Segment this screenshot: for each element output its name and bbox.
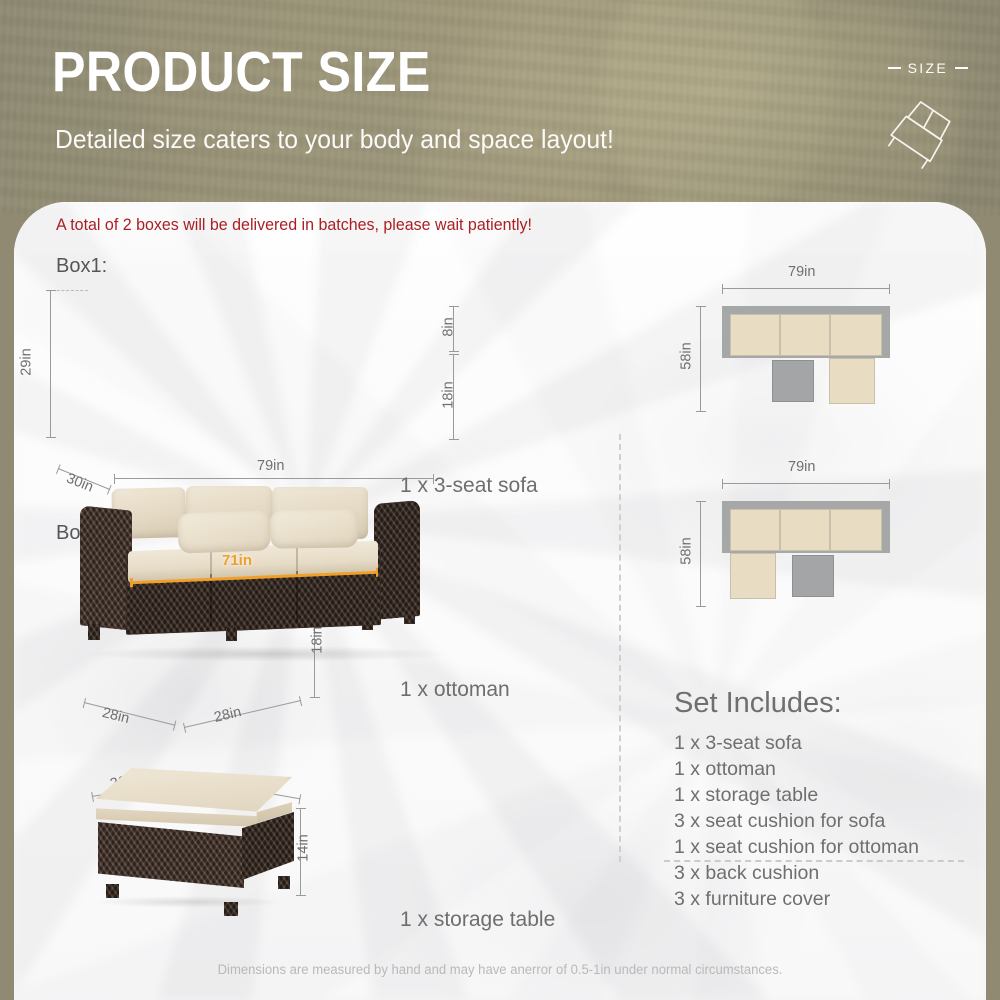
measurement-disclaimer: Dimensions are measured by hand and may … — [15, 962, 985, 977]
header-banner: PRODUCT SIZE Detailed size caters to you… — [0, 0, 1000, 215]
set-includes-item: 1 x ottoman — [674, 756, 919, 782]
delivery-notice: A total of 2 boxes will be delivered in … — [56, 216, 532, 235]
set-includes-item: 3 x seat cushion for sofa — [674, 808, 919, 834]
ottoman-width-value: 28in — [100, 705, 130, 727]
sofa-width-line — [114, 478, 434, 479]
sofa-line-icon — [888, 96, 962, 179]
page-title: PRODUCT SIZE — [52, 44, 431, 101]
storage-table-product-label: 1 x storage table — [400, 908, 555, 932]
ottoman-depth-line — [184, 700, 301, 728]
layout1-width-line — [722, 288, 890, 289]
body-seam — [296, 571, 298, 623]
page-subtitle: Detailed size caters to your body and sp… — [55, 124, 614, 155]
layout1-sofa-cushion — [780, 314, 830, 356]
layout1-width-value: 79in — [788, 264, 815, 280]
badge-dash-left — [888, 67, 901, 68]
sofa-width-value: 79in — [257, 458, 284, 474]
set-includes-item: 3 x furniture cover — [674, 886, 919, 912]
set-includes-item: 1 x seat cushion for ottoman — [674, 834, 919, 860]
layout1-storage-table — [772, 360, 814, 402]
sofa-height-value: 29in — [19, 348, 35, 375]
ottoman-product-label: 1 x ottoman — [400, 678, 510, 702]
layout2-width-line — [722, 483, 890, 484]
sofa-left-arm — [80, 505, 132, 630]
size-badge-label: SIZE — [908, 60, 948, 76]
set-includes-item: 1 x 3-seat sofa — [674, 730, 919, 756]
size-badge: SIZE — [888, 60, 968, 76]
sofa-lumbar-pillow — [270, 509, 359, 549]
layout2-width-value: 79in — [788, 459, 815, 475]
ottoman-illustration — [84, 762, 324, 912]
layout1-sofa-cushion — [830, 314, 882, 356]
seat-width-value: 71in — [222, 552, 252, 569]
set-includes-item: 3 x back cushion — [674, 860, 919, 886]
layout-diagram-2: 79in 58in — [674, 457, 964, 617]
layout1-depth-line — [700, 306, 701, 412]
content-panel: A total of 2 boxes will be delivered in … — [14, 202, 986, 1000]
column-divider — [619, 434, 621, 862]
ottoman-leg — [278, 876, 290, 889]
sofa-leg — [226, 627, 237, 641]
sofa-shadow — [80, 646, 452, 662]
layout2-sofa-cushion — [780, 509, 830, 551]
layout-diagram-1: 79in 58in — [674, 262, 964, 422]
box1-label: Box1: — [56, 255, 107, 278]
sofa-lumbar-pillow — [177, 510, 270, 553]
ottoman-depth-value: 28in — [213, 704, 243, 726]
header-foliage-texture — [0, 0, 1000, 215]
sofa-illustration: 71in — [74, 484, 464, 664]
badge-dash-right — [955, 67, 968, 68]
set-includes-item: 1 x storage table — [674, 782, 919, 808]
layout2-depth-line — [700, 501, 701, 607]
infographic-root: PRODUCT SIZE Detailed size caters to you… — [0, 0, 1000, 1000]
sofa-leg — [404, 610, 415, 624]
layout2-sofa-cushion — [830, 509, 882, 551]
layout2-ottoman — [730, 553, 776, 599]
layout1-sofa-cushion — [730, 314, 780, 356]
layout1-ottoman — [829, 358, 875, 404]
ottoman-base-front — [98, 822, 244, 888]
sofa-leg — [88, 624, 100, 640]
sofa-seat-height-value: 18in — [441, 381, 457, 408]
ottoman-shadow — [94, 896, 284, 908]
sofa-height-line — [50, 290, 51, 438]
set-includes-title: Set Includes: — [674, 687, 919, 720]
sofa-back-cushion-height-value: 8in — [441, 317, 457, 336]
body-seam — [210, 574, 212, 626]
set-includes-block: Set Includes: 1 x 3-seat sofa 1 x ottoma… — [674, 687, 919, 912]
layout2-storage-table — [792, 555, 834, 597]
layout2-sofa-cushion — [730, 509, 780, 551]
sofa-leg — [362, 616, 373, 630]
layout1-depth-value: 58in — [679, 342, 695, 369]
ottoman-leg — [106, 884, 119, 898]
ottoman-leg — [224, 902, 238, 916]
layout2-depth-value: 58in — [679, 537, 695, 564]
